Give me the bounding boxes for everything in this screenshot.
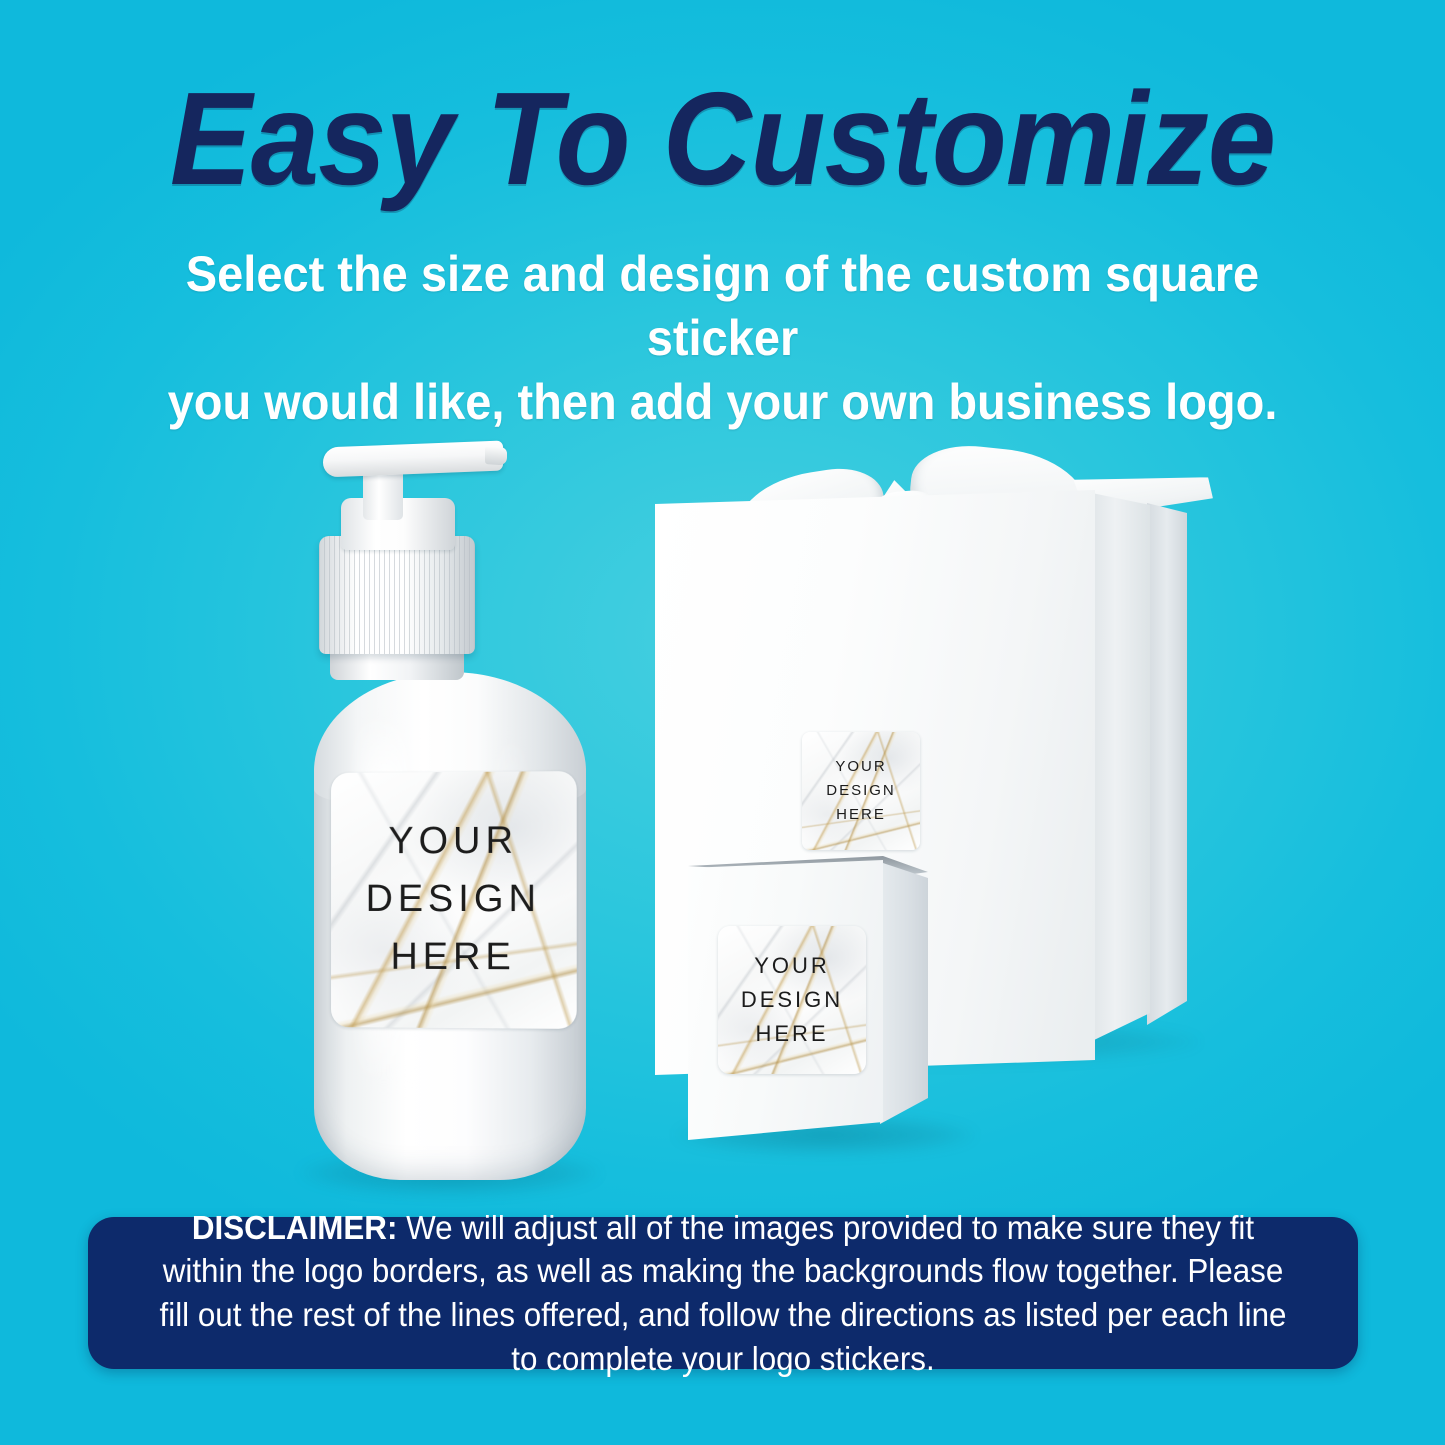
small-box: YOUR DESIGN HERE [688,850,956,1150]
pump-bottle: YOUR DESIGN HERE [300,410,600,1200]
sticker-bottle-text: YOUR DESIGN HERE [331,771,577,1029]
sticker-bottle-label: YOUR DESIGN HERE [331,771,577,1029]
promo-banner: Easy To Customize Select the size and de… [0,0,1445,1445]
sticker-gift-box-text: YOUR DESIGN HERE [802,732,920,850]
small-box-side-panel [880,862,928,1134]
page-title: Easy To Customize [51,72,1395,207]
bottle-pump-nozzle [323,441,503,478]
sticker-small-box-text: YOUR DESIGN HERE [718,926,866,1074]
sticker-line-1: YOUR [388,813,518,871]
gift-box-side-panel [1092,493,1150,1043]
sticker-line-3: HERE [755,1017,828,1051]
sticker-line-2: DESIGN [366,871,541,929]
product-scene: YOUR DESIGN HERE YOUR DESIGN HERE [0,390,1445,1200]
sticker-line-1: YOUR [754,949,830,983]
disclaimer-label: DISCLAIMER: [192,1209,398,1246]
sticker-line-2: DESIGN [741,983,843,1017]
subtitle-line-1: Select the size and design of the custom… [128,242,1317,370]
sticker-small-box: YOUR DESIGN HERE [718,926,866,1074]
sticker-line-2: DESIGN [826,779,896,803]
sticker-gift-box: YOUR DESIGN HERE [802,732,920,850]
gift-box-back-panel [1147,503,1187,1033]
bottle-ribbed-cap [319,536,475,654]
sticker-line-3: HERE [391,929,516,987]
sticker-line-1: YOUR [835,755,886,779]
sticker-line-3: HERE [836,803,886,827]
disclaimer-banner: DISCLAIMER: We will adjust all of the im… [88,1217,1358,1369]
disclaimer-text: DISCLAIMER: We will adjust all of the im… [120,1206,1327,1380]
